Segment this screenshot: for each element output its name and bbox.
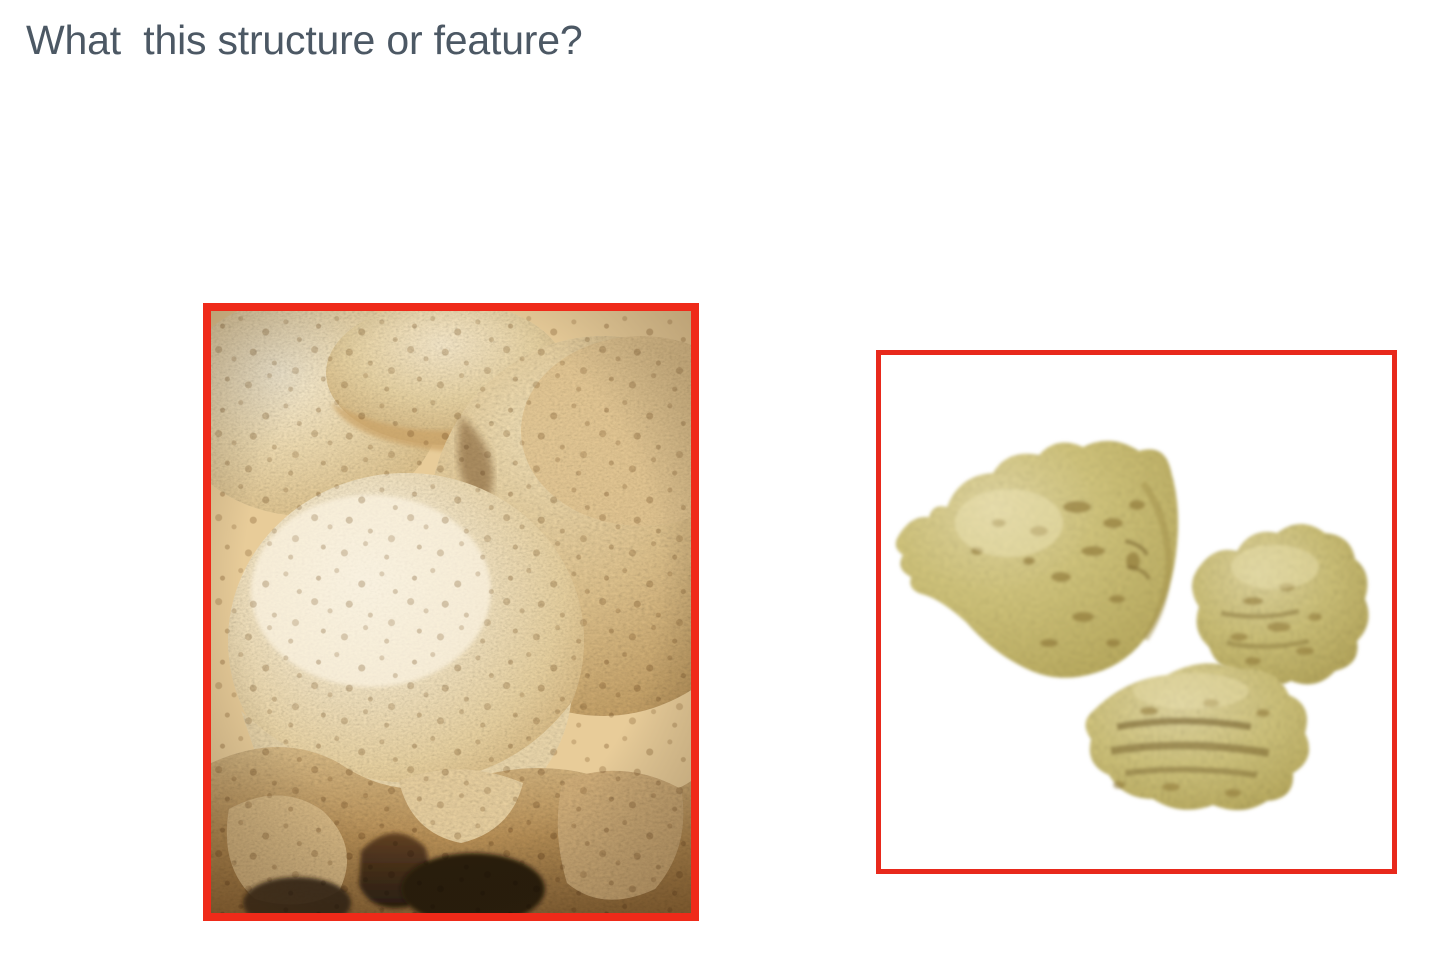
figure-right-dried-sponge-specimens[interactable]	[876, 350, 1397, 874]
figure-left-sea-sponge-cluster[interactable]	[203, 303, 699, 921]
sea-sponge-cluster-image	[211, 311, 691, 913]
dried-sponge-specimens-image	[881, 355, 1392, 869]
page-title: What this structure or feature?	[26, 16, 582, 64]
